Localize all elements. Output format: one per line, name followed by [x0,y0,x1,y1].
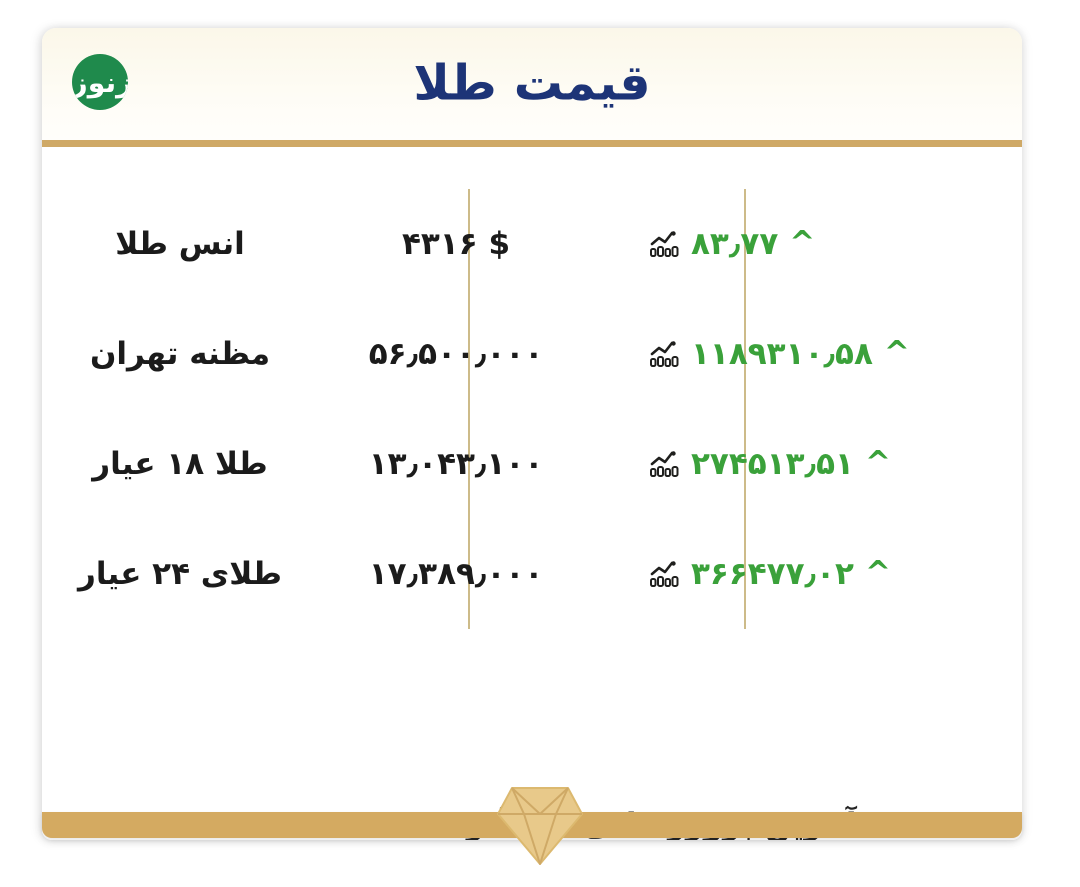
gold-price-card: قیمت طلا جزنوزی [42,28,1022,840]
change-cell: ۱۱۸۹۳۱۰٫۵۸ ^ [594,336,1022,372]
change-value: ۱۱۸۹۳۱۰٫۵۸ [691,336,873,372]
chart-trend-icon [650,341,680,367]
trend-up-caret: ^ [884,338,910,369]
change-value: ۲۷۴۵۱۳٫۵۱ [691,446,854,482]
trend-up-caret: ^ [865,448,891,479]
table-row[interactable]: ۳۶۶۴۷۷٫۰۲ ^ ۱۷٫۳۸۹٫۰۰۰ طلای ۲۴ عیار [42,519,1022,629]
change-cell: ۲۷۴۵۱۳٫۵۱ ^ [594,446,1022,482]
brand-logo-mark: جزنوزی [72,70,128,97]
card-header: قیمت طلا جزنوزی [42,28,1022,147]
card-body: ۸۳٫۷۷ ^ ۴۳۱۶ $ انس طلا [42,147,1022,840]
rates-table: ۸۳٫۷۷ ^ ۴۳۱۶ $ انس طلا [42,189,1022,629]
change-cell: ۳۶۶۴۷۷٫۰۲ ^ [594,556,1022,592]
price-value: ۱۳٫۰۴۳٫۱۰۰ [318,446,594,482]
change-value: ۸۳٫۷۷ [691,226,778,262]
table-row[interactable]: ۸۳٫۷۷ ^ ۴۳۱۶ $ انس طلا [42,189,1022,299]
trend-up-caret: ^ [789,228,815,259]
chart-trend-icon [650,451,680,477]
price-value: ۴۳۱۶ $ [318,226,594,262]
brand-logo[interactable]: جزنوزی [72,54,128,110]
diamond-gem-icon [494,784,586,868]
chart-trend-icon [650,561,680,587]
chart-trend-icon [650,231,680,257]
asset-label: انس طلا [42,226,318,262]
page-title: قیمت طلا [42,59,1022,108]
asset-label: مظنه تهران [42,336,318,372]
price-value: ۱۷٫۳۸۹٫۰۰۰ [318,556,594,592]
asset-label: طلای ۲۴ عیار [42,556,318,592]
change-cell: ۸۳٫۷۷ ^ [594,226,1022,262]
change-value: ۳۶۶۴۷۷٫۰۲ [691,556,854,592]
table-row[interactable]: ۲۷۴۵۱۳٫۵۱ ^ ۱۳٫۰۴۳٫۱۰۰ طلا ۱۸ عیار [42,409,1022,519]
asset-label: طلا ۱۸ عیار [42,446,318,482]
table-row[interactable]: ۱۱۸۹۳۱۰٫۵۸ ^ ۵۶٫۵۰۰٫۰۰۰ مظنه تهران [42,299,1022,409]
brand-logo-circle: جزنوزی [72,54,128,110]
trend-up-caret: ^ [865,558,891,589]
price-value: ۵۶٫۵۰۰٫۰۰۰ [318,336,594,372]
